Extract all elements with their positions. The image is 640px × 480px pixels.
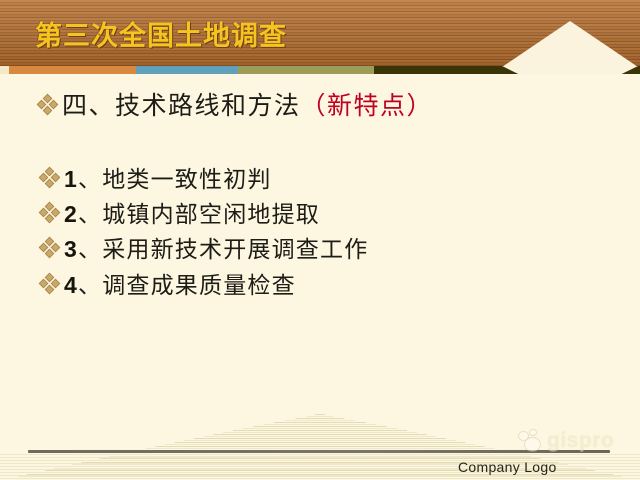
list-item-label: 采用新技术开展调查工作 bbox=[102, 237, 368, 262]
content-heading-note: （新特点） bbox=[301, 93, 434, 120]
diamond-bullet-icon bbox=[40, 203, 59, 222]
accent-segment-orange bbox=[9, 66, 136, 74]
list-item-number: 3 bbox=[64, 236, 78, 262]
accent-segment-cream bbox=[0, 66, 9, 74]
list-item-number: 1 bbox=[64, 166, 78, 192]
presentation-slide: 第三次全国土地调查 四、技术路线和方法（新特点） 1、地类一致性初判 bbox=[0, 0, 640, 480]
header-mountain-shape bbox=[502, 21, 638, 66]
watermark-text: gispro bbox=[547, 429, 614, 453]
accent-segment-blue bbox=[136, 66, 238, 74]
content-heading-text: 四、技术路线和方法（新特点） bbox=[62, 86, 433, 122]
gispro-bubble-icon bbox=[519, 429, 547, 453]
list-item-text: 3、采用新技术开展调查工作 bbox=[64, 230, 368, 264]
list-item-separator: 、 bbox=[78, 202, 102, 227]
list-item-text: 4、调查成果质量检查 bbox=[64, 266, 296, 300]
slide-header-banner: 第三次全国土地调查 bbox=[0, 0, 640, 66]
accent-segment-olive bbox=[238, 66, 374, 74]
diamond-bullet-icon bbox=[40, 168, 59, 187]
list-item-text: 2、城镇内部空闲地提取 bbox=[64, 195, 320, 229]
content-heading-line: 四、技术路线和方法（新特点） bbox=[38, 86, 433, 122]
list-item-label: 城镇内部空闲地提取 bbox=[102, 202, 320, 227]
list-item-number: 4 bbox=[64, 272, 78, 298]
company-logo-label: Company Logo bbox=[458, 459, 557, 475]
list-item: 3、采用新技术开展调查工作 bbox=[40, 230, 368, 264]
diamond-bullet-icon bbox=[40, 274, 59, 293]
slide-content-body: 四、技术路线和方法（新特点） 1、地类一致性初判 2、城镇内部空闲地提取 3、采… bbox=[0, 74, 640, 404]
list-item-separator: 、 bbox=[78, 273, 102, 298]
list-item-label: 调查成果质量检查 bbox=[102, 273, 296, 298]
list-item-separator: 、 bbox=[78, 237, 102, 262]
diamond-bullet-icon bbox=[38, 95, 57, 114]
list-item-label: 地类一致性初判 bbox=[102, 167, 271, 192]
list-item-text: 1、地类一致性初判 bbox=[64, 160, 272, 194]
content-heading-main: 四、技术路线和方法 bbox=[62, 93, 301, 120]
list-item: 1、地类一致性初判 bbox=[40, 160, 272, 194]
list-item: 4、调查成果质量检查 bbox=[40, 266, 296, 300]
diamond-bullet-icon bbox=[40, 238, 59, 257]
list-item-number: 2 bbox=[64, 201, 78, 227]
gispro-watermark: gispro bbox=[519, 425, 637, 457]
list-item-separator: 、 bbox=[78, 167, 102, 192]
header-mountain-base bbox=[502, 66, 638, 74]
list-item: 2、城镇内部空闲地提取 bbox=[40, 195, 320, 229]
slide-title: 第三次全国土地调查 bbox=[35, 14, 287, 53]
